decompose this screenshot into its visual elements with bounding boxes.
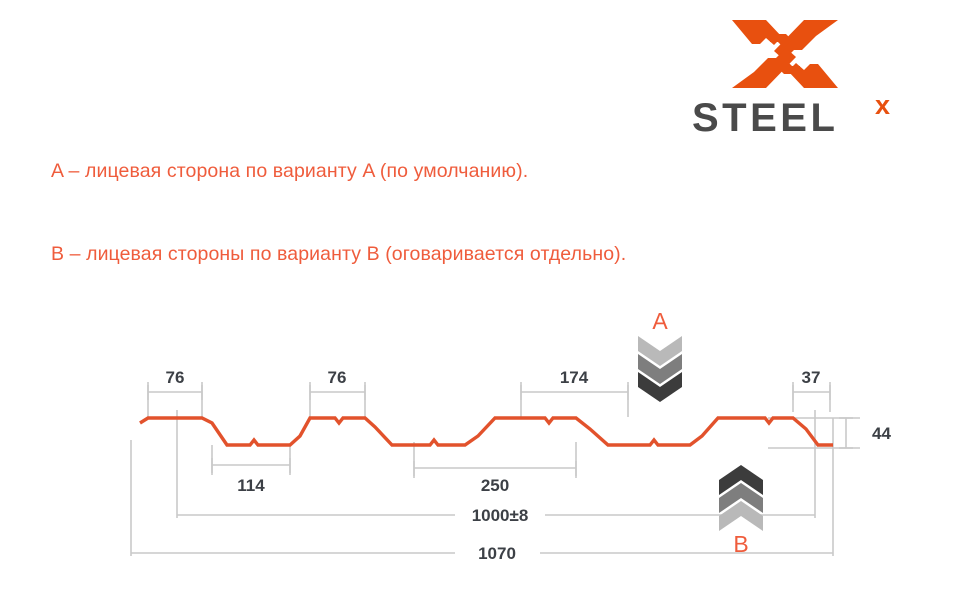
brand-logo: STEEL x <box>690 18 920 143</box>
profile-polyline <box>140 418 833 445</box>
dim-label-174: 174 <box>560 368 589 387</box>
dim-label-1000: 1000±8 <box>472 506 529 525</box>
dim-label-114: 114 <box>237 476 265 495</box>
face-marker-a: A <box>632 308 688 403</box>
caption-variant-b: B – лицевая стороны по варианту B (огова… <box>51 243 626 266</box>
page-canvas: STEEL x A – лицевая сторона по варианту … <box>0 0 970 597</box>
dim-label-76-right: 76 <box>328 368 347 387</box>
dim-label-44: 44 <box>872 424 891 443</box>
steelx-x-mark-icon <box>730 18 840 90</box>
face-marker-a-label: A <box>640 308 680 335</box>
dim-label-1070: 1070 <box>478 544 516 563</box>
corrugated-sheet-profile-drawing: 76 76 174 37 44 114 250 1000±8 1070 <box>0 290 970 590</box>
chevron-up-icon <box>713 463 769 533</box>
logo-wordmark-superscript: x <box>875 90 890 120</box>
logo-wordmark: STEEL x <box>690 96 920 142</box>
chevron-down-icon <box>632 334 688 404</box>
face-marker-b-label: B <box>721 531 761 558</box>
dim-label-37: 37 <box>802 368 821 387</box>
logo-wordmark-text: STEEL <box>692 96 838 140</box>
dim-label-76-left: 76 <box>166 368 185 387</box>
face-marker-b: B <box>713 463 769 563</box>
dim-label-250: 250 <box>481 476 509 495</box>
caption-variant-a: A – лицевая сторона по варианту A (по ум… <box>51 160 528 183</box>
